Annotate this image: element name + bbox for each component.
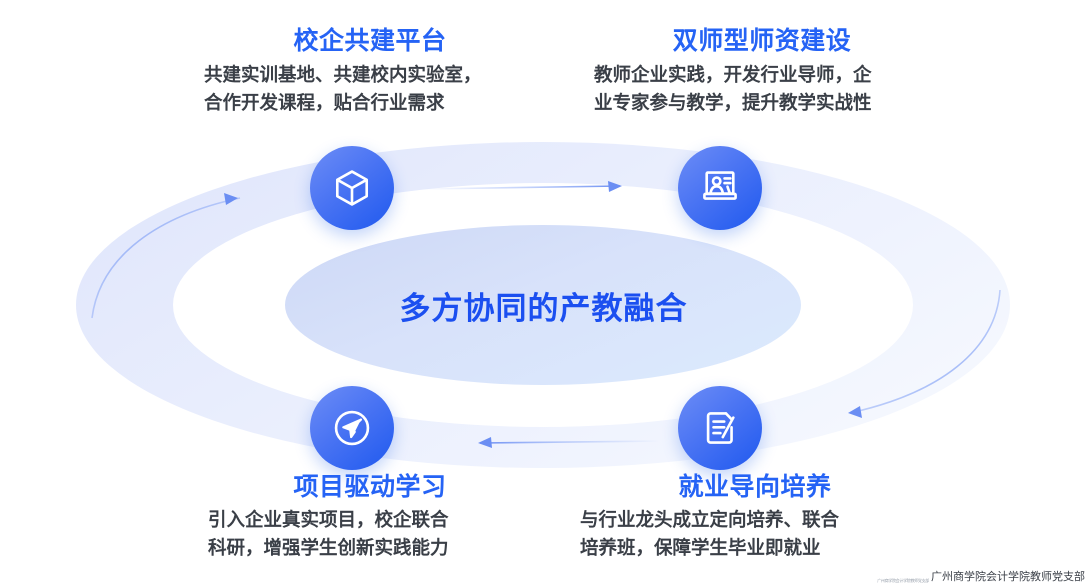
teacher-presentation-icon	[699, 167, 741, 209]
node-project-driven-learning[interactable]	[310, 386, 394, 470]
cube-icon	[331, 167, 373, 209]
watermark-tiny-text: 广州商学院会计学院教师党支部	[877, 579, 929, 583]
block-title: 就业导向培养	[570, 473, 940, 502]
block-dual-teacher-faculty: 双师型师资建设 教师企业实践，开发行业导师，企 业专家参与教学，提升教学实战性	[584, 27, 940, 118]
block-body: 引入企业真实项目，校企联合 科研，增强学生创新实践能力	[196, 506, 544, 563]
block-body-line: 共建实训基地、共建校内实验室，	[204, 61, 544, 90]
block-title: 项目驱动学习	[196, 473, 544, 502]
block-body-line: 科研，增强学生创新实践能力	[208, 534, 544, 563]
block-title: 双师型师资建设	[584, 27, 940, 56]
block-body-line: 培养班，保障学生毕业即就业	[580, 534, 940, 563]
block-body-line: 合作开发课程，贴合行业需求	[204, 89, 544, 118]
block-body-line: 与行业龙头成立定向培养、联合	[580, 506, 940, 535]
block-body-line: 业专家参与教学，提升教学实战性	[594, 89, 940, 118]
block-body: 教师企业实践，开发行业导师，企 业专家参与教学，提升教学实战性	[584, 61, 940, 118]
node-employment-oriented-training[interactable]	[678, 386, 762, 470]
watermark-main-text: 广州商学院会计学院教师党支部	[931, 572, 1085, 583]
node-dual-teacher-faculty[interactable]	[678, 146, 762, 230]
block-body: 共建实训基地、共建校内实验室， 合作开发课程，贴合行业需求	[196, 61, 544, 118]
infographic-canvas: 多方协同的产教融合	[0, 0, 1087, 584]
center-label: 多方协同的产教融合	[0, 283, 1087, 328]
block-project-driven-learning: 项目驱动学习 引入企业真实项目，校企联合 科研，增强学生创新实践能力	[196, 473, 544, 563]
block-employment-oriented-training: 就业导向培养 与行业龙头成立定向培养、联合 培养班，保障学生毕业即就业	[570, 473, 940, 563]
document-edit-icon	[699, 407, 741, 449]
watermark: 广州商学院会计学院教师党支部 广州商学院会计学院教师党支部	[877, 572, 1085, 583]
block-title: 校企共建平台	[196, 27, 544, 56]
block-body: 与行业龙头成立定向培养、联合 培养班，保障学生毕业即就业	[570, 506, 940, 563]
block-school-enterprise-platform: 校企共建平台 共建实训基地、共建校内实验室， 合作开发课程，贴合行业需求	[196, 27, 544, 118]
block-body-line: 引入企业真实项目，校企联合	[208, 506, 544, 535]
paper-plane-icon	[331, 407, 373, 449]
block-body-line: 教师企业实践，开发行业导师，企	[594, 61, 940, 90]
node-school-enterprise-platform[interactable]	[310, 146, 394, 230]
